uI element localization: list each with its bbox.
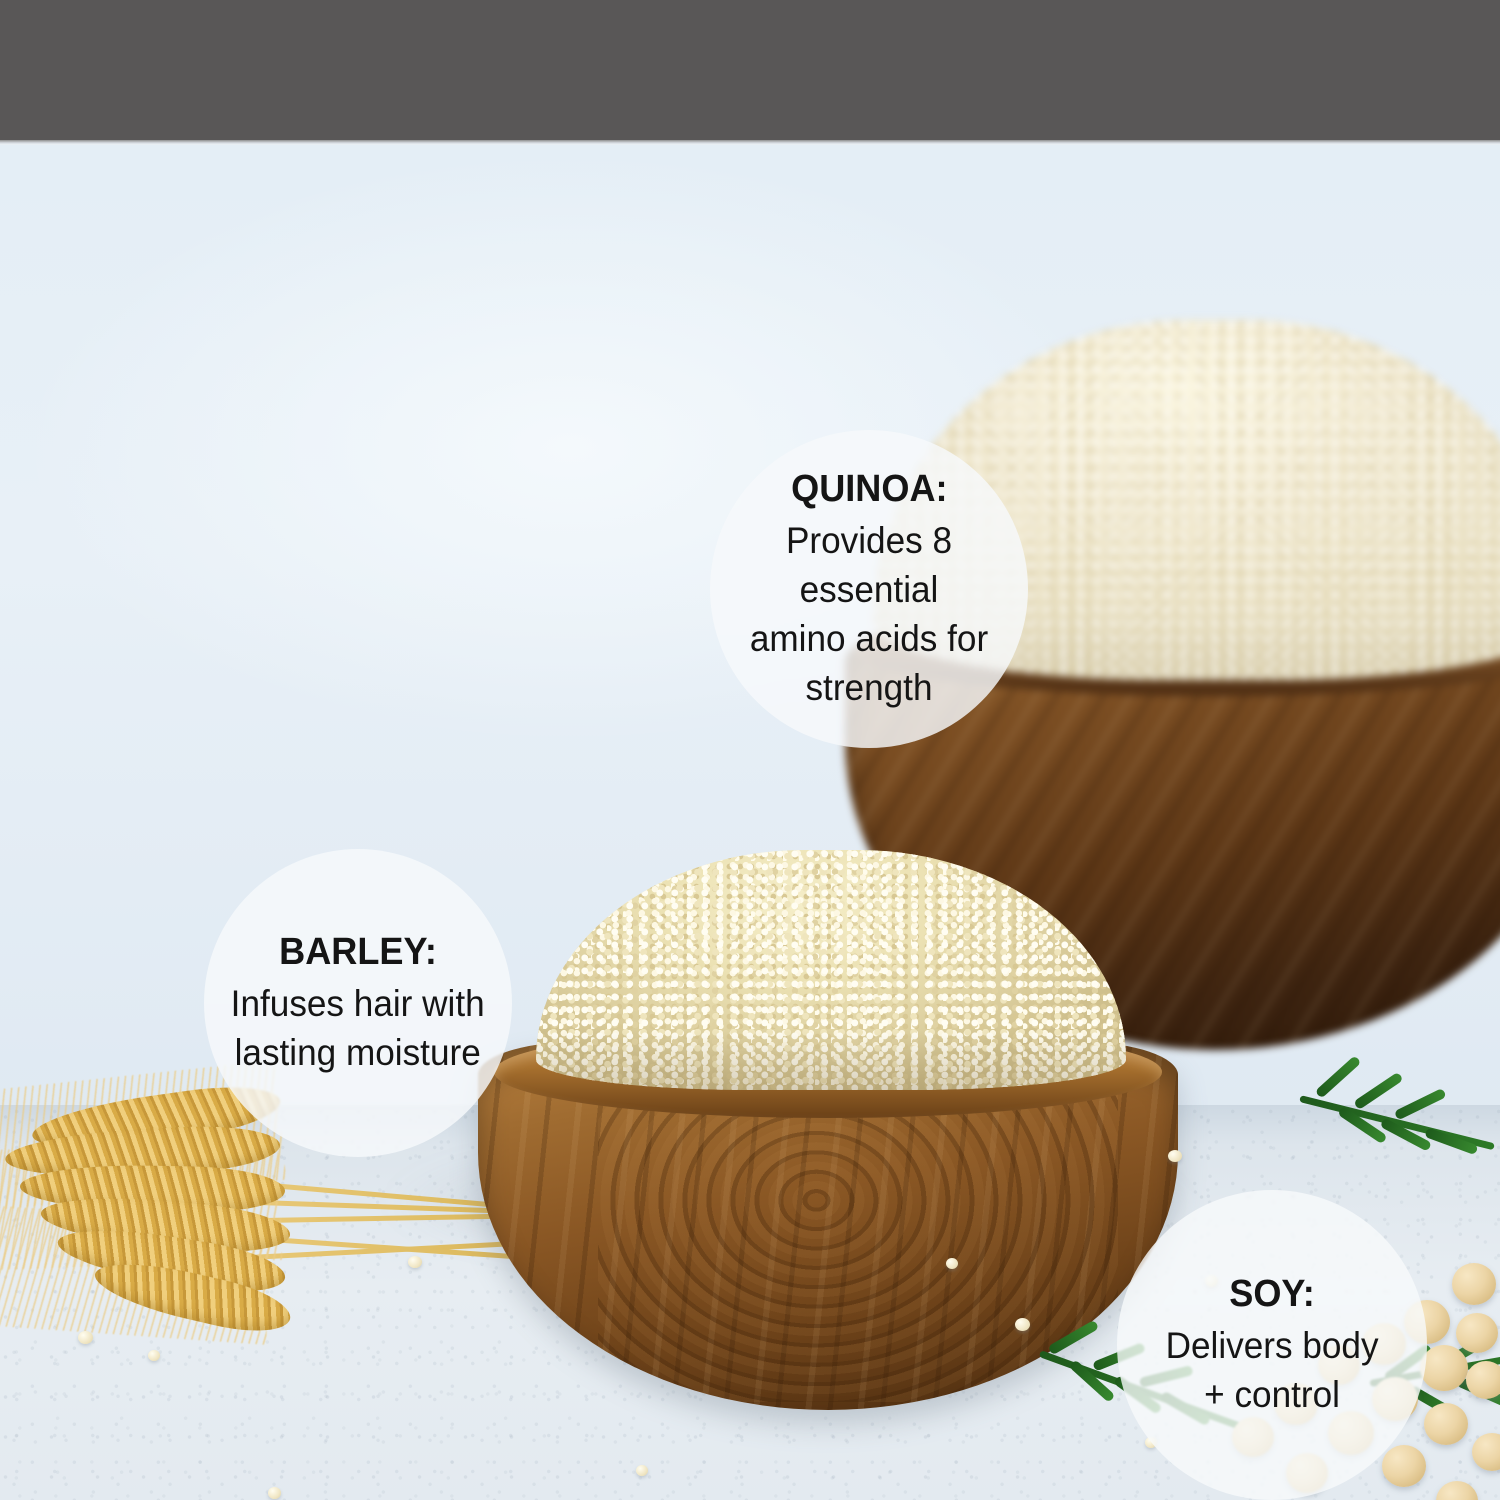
infographic-canvas: QUINOA: Provides 8 essential amino acids… [0, 0, 1500, 1500]
callout-body-barley: Infuses hair with lasting moisture [231, 979, 485, 1077]
rosemary-needle [1315, 1055, 1362, 1099]
callout-bubble-quinoa[interactable]: QUINOA: Provides 8 essential amino acids… [710, 430, 1028, 748]
rosemary-sprig-top [1300, 1035, 1500, 1195]
soybean [1424, 1403, 1468, 1445]
soybean [1466, 1361, 1500, 1399]
quinoa-grain [268, 1487, 281, 1499]
quinoa-grain-texture [536, 850, 1126, 1090]
quinoa-grain [148, 1350, 160, 1361]
quinoa-grain [636, 1465, 648, 1476]
header-bar [0, 0, 1500, 140]
soybean [1382, 1445, 1426, 1487]
rosemary-needle [1353, 1072, 1403, 1110]
quinoa-grain [78, 1331, 93, 1344]
quinoa-grain [408, 1256, 422, 1268]
callout-title-barley: BARLEY: [279, 929, 437, 975]
rosemary-needle [1048, 1320, 1100, 1356]
header-divider [0, 140, 1500, 145]
callout-title-quinoa: QUINOA: [791, 466, 947, 512]
quinoa-grain [1168, 1150, 1182, 1162]
callout-bubble-barley[interactable]: BARLEY: Infuses hair with lasting moistu… [204, 849, 512, 1157]
callout-title-soy: SOY: [1229, 1271, 1315, 1317]
quinoa-grain [1015, 1318, 1030, 1331]
soybean [1452, 1263, 1496, 1305]
callout-body-quinoa: Provides 8 essential amino acids for str… [718, 516, 1020, 712]
bowl-front-quinoa-mound [536, 850, 1126, 1090]
soybean [1456, 1313, 1498, 1353]
rosemary-needle [1394, 1088, 1447, 1121]
callout-body-soy: Delivers body + control [1166, 1321, 1379, 1419]
product-photo: QUINOA: Provides 8 essential amino acids… [0, 145, 1500, 1500]
quinoa-grain [946, 1258, 958, 1269]
callout-bubble-soy[interactable]: SOY: Delivers body + control [1117, 1190, 1427, 1500]
soybean [1420, 1345, 1468, 1391]
